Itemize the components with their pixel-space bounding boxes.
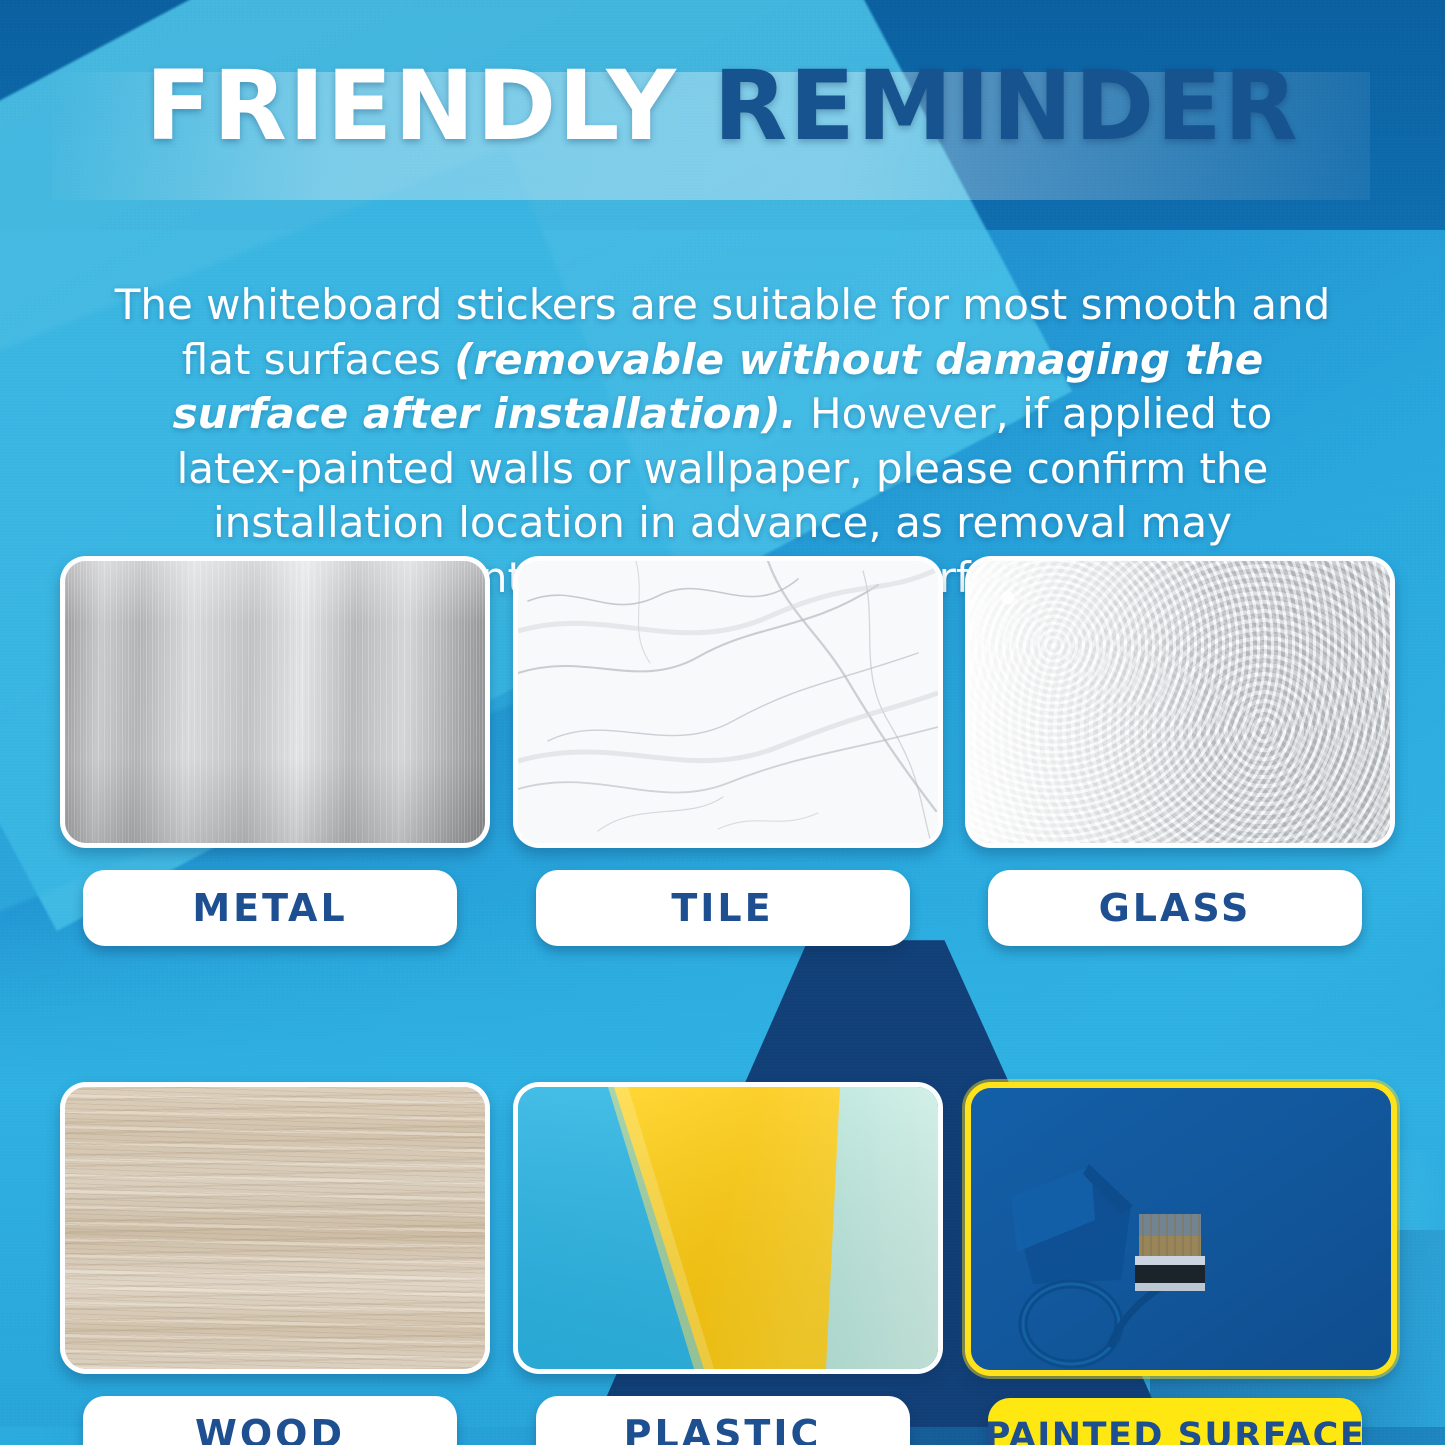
paint-brush-and-can-icon	[971, 1088, 1391, 1370]
swatch-image-painted-surface	[965, 1082, 1397, 1376]
surface-label-text-plastic: PLASTIC	[624, 1412, 822, 1445]
brushed-metal-texture	[65, 561, 485, 843]
surface-label-text-painted-surface: PAINTED SURFACE	[985, 1416, 1366, 1445]
surface-cell-glass[interactable]: GLASS	[965, 556, 1385, 946]
title-word-reminder: REMINDER	[713, 50, 1299, 162]
title-word-friendly: FRIENDLY	[145, 50, 678, 162]
surface-label-pill-plastic[interactable]: PLASTIC	[536, 1396, 910, 1445]
swatch-row-bottom: WOOD	[60, 1082, 1385, 1445]
marble-veins-icon	[518, 561, 938, 843]
surface-cell-wood[interactable]: WOOD	[60, 1082, 480, 1445]
surface-label-pill-glass[interactable]: GLASS	[988, 870, 1362, 946]
painted-wall-texture	[971, 1088, 1391, 1370]
surface-label-text-tile: TILE	[671, 886, 773, 930]
surface-label-pill-metal[interactable]: METAL	[83, 870, 457, 946]
swatch-image-metal	[60, 556, 490, 848]
surface-cell-painted[interactable]: PAINTED SURFACE	[965, 1082, 1385, 1445]
swatch-image-tile	[513, 556, 943, 848]
frosted-glass-texture	[970, 561, 1390, 843]
surface-label-pill-wood[interactable]: WOOD	[83, 1396, 457, 1445]
surface-cell-plastic[interactable]: PLASTIC	[513, 1082, 933, 1445]
swatch-row-top: METAL	[60, 556, 1385, 946]
surface-swatch-grid: METAL	[60, 556, 1385, 1445]
surface-label-text-glass: GLASS	[1099, 886, 1252, 930]
surface-label-pill-painted-surface[interactable]: PAINTED SURFACE	[988, 1398, 1362, 1445]
surface-label-text-wood: WOOD	[195, 1412, 345, 1445]
surface-label-text-metal: METAL	[192, 886, 347, 930]
swatch-image-glass	[965, 556, 1395, 848]
surface-label-pill-tile[interactable]: TILE	[536, 870, 910, 946]
swatch-image-plastic	[513, 1082, 943, 1374]
surface-cell-tile[interactable]: TILE	[513, 556, 933, 946]
friendly-reminder-poster: FRIENDLY REMINDER The whiteboard sticker…	[0, 0, 1445, 1445]
light-wood-texture	[65, 1087, 485, 1369]
swatch-image-wood	[60, 1082, 490, 1374]
colored-plastic-texture	[518, 1087, 938, 1369]
plastic-color-shapes-icon	[518, 1087, 938, 1369]
white-marble-texture	[518, 561, 938, 843]
page-title: FRIENDLY REMINDER	[0, 58, 1445, 154]
surface-cell-metal[interactable]: METAL	[60, 556, 480, 946]
